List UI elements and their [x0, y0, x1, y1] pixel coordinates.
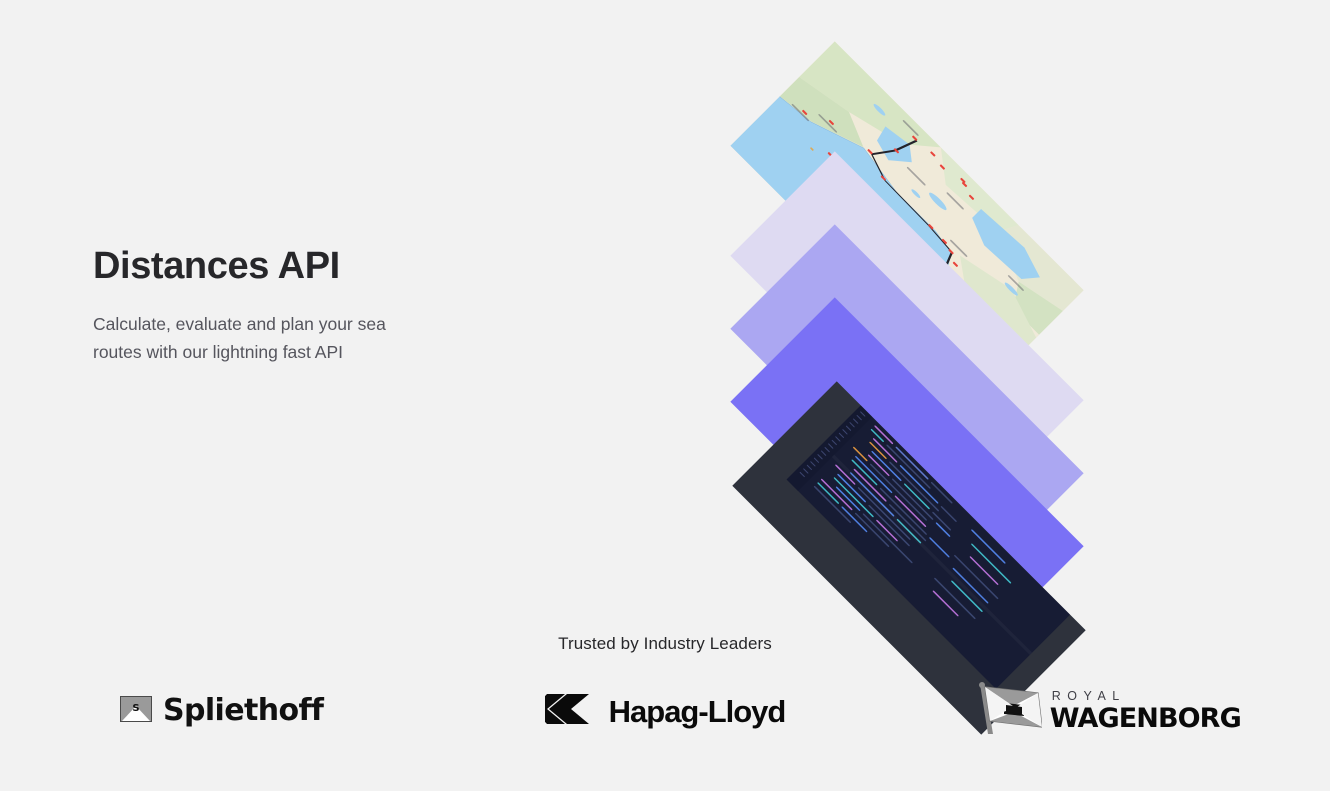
logo-spliethoff[interactable]: S Spliethoff	[0, 676, 443, 746]
isometric-layer-stack	[655, 80, 1165, 570]
partner-logo-row: S Spliethoff Hapag-Lloyd	[0, 676, 1330, 746]
wagenborg-flag-icon	[976, 682, 1042, 741]
spliethoff-wordmark: Spliethoff	[163, 696, 323, 726]
hero-text-block: Distances API Calculate, evaluate and pl…	[93, 246, 513, 366]
wagenborg-royal-text: ROYAL	[1050, 690, 1241, 703]
hero-page: Distances API Calculate, evaluate and pl…	[0, 0, 1330, 791]
hapag-lloyd-wordmark: Hapag-Lloyd	[609, 696, 786, 727]
logo-hapag-lloyd[interactable]: Hapag-Lloyd	[443, 676, 886, 746]
svg-text:S: S	[132, 703, 139, 714]
trusted-by-section: Trusted by Industry Leaders	[0, 634, 1330, 654]
hapag-double-chevron-icon	[545, 693, 591, 730]
logo-royal-wagenborg[interactable]: ROYAL WAGENBORG	[887, 676, 1330, 746]
page-title: Distances API	[93, 246, 513, 288]
trusted-by-label: Trusted by Industry Leaders	[0, 634, 1330, 654]
page-subtitle: Calculate, evaluate and plan your sea ro…	[93, 310, 433, 366]
spliethoff-flag-icon: S	[120, 696, 152, 727]
wagenborg-wordmark: WAGENBORG	[1050, 705, 1241, 732]
